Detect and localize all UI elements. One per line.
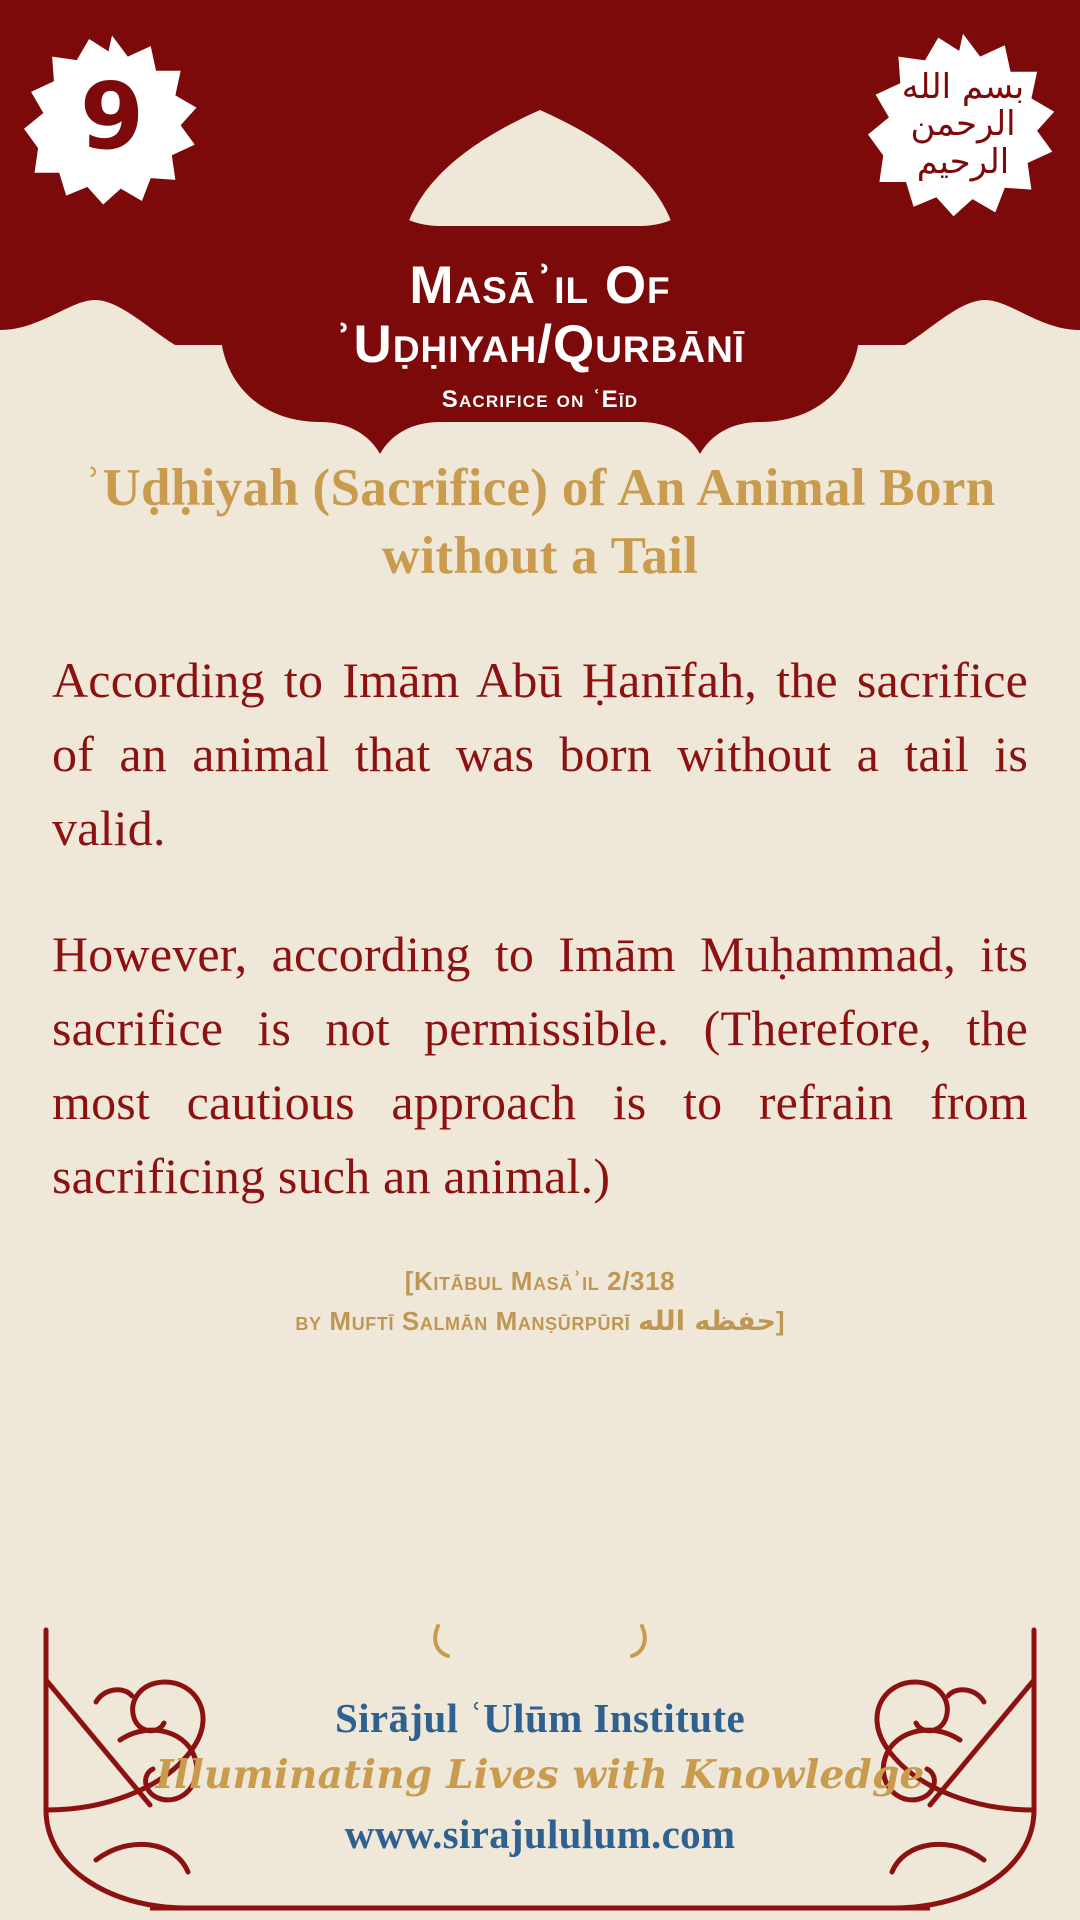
institute-name: Sirājul ʿUlūm Institute	[0, 1694, 1080, 1742]
poster-title-line-1: Masāʾil of	[250, 258, 830, 314]
main-content: ʾUḍḥiyah (Sacrifice) of An Animal Born w…	[0, 400, 1080, 1343]
poster-title-line-2: ʾUḍḥiyah/Qurbānī	[250, 317, 830, 373]
citation-line-2: by Muftī Salmān Manṣūrpūrī حفظه الله]	[80, 1301, 1000, 1343]
citation-dua-arabic: حفظه الله	[638, 1306, 776, 1337]
body-paragraph-2: However, according to Imām Muḥammad, its…	[52, 917, 1028, 1213]
institute-tagline: Illuminating Lives with Knowledge	[0, 1752, 1080, 1798]
website-url[interactable]: www.sirajululum.com	[0, 1810, 1080, 1858]
footer-text-group: Sirājul ʿUlūm Institute Illuminating Liv…	[0, 1694, 1080, 1858]
lesson-number: 9	[24, 32, 200, 208]
citation-block: [Kitābul Masāʾil 2/318 by Muftī Salmān M…	[80, 1261, 1000, 1343]
lesson-number-badge: 9	[24, 32, 200, 208]
bismillah-calligraphy: بسم الله الرحمن الرحيم	[868, 69, 1058, 181]
bismillah-emblem: بسم الله الرحمن الرحيم	[868, 30, 1058, 220]
title-plaque: Masāʾil of ʾUḍḥiyah/Qurbānī Sacrifice on…	[240, 222, 840, 450]
poster-subtitle: Sacrifice on ʿEīd	[250, 386, 830, 414]
body-paragraph-1: According to Imām Abū Ḥanīfah, the sacri…	[52, 643, 1028, 865]
poster-card: 9 بسم الله الرحمن الرحيم Masāʾil of ʾUḍḥ…	[0, 0, 1080, 1920]
citation-bracket-close: ]	[776, 1306, 785, 1336]
section-heading: ʾUḍḥiyah (Sacrifice) of An Animal Born w…	[58, 455, 1022, 591]
citation-author: by Muftī Salmān Manṣūrpūrī	[295, 1306, 638, 1336]
footer: Sirājul ʿUlūm Institute Illuminating Liv…	[0, 1620, 1080, 1920]
citation-line-1: [Kitābul Masāʾil 2/318	[80, 1261, 1000, 1301]
